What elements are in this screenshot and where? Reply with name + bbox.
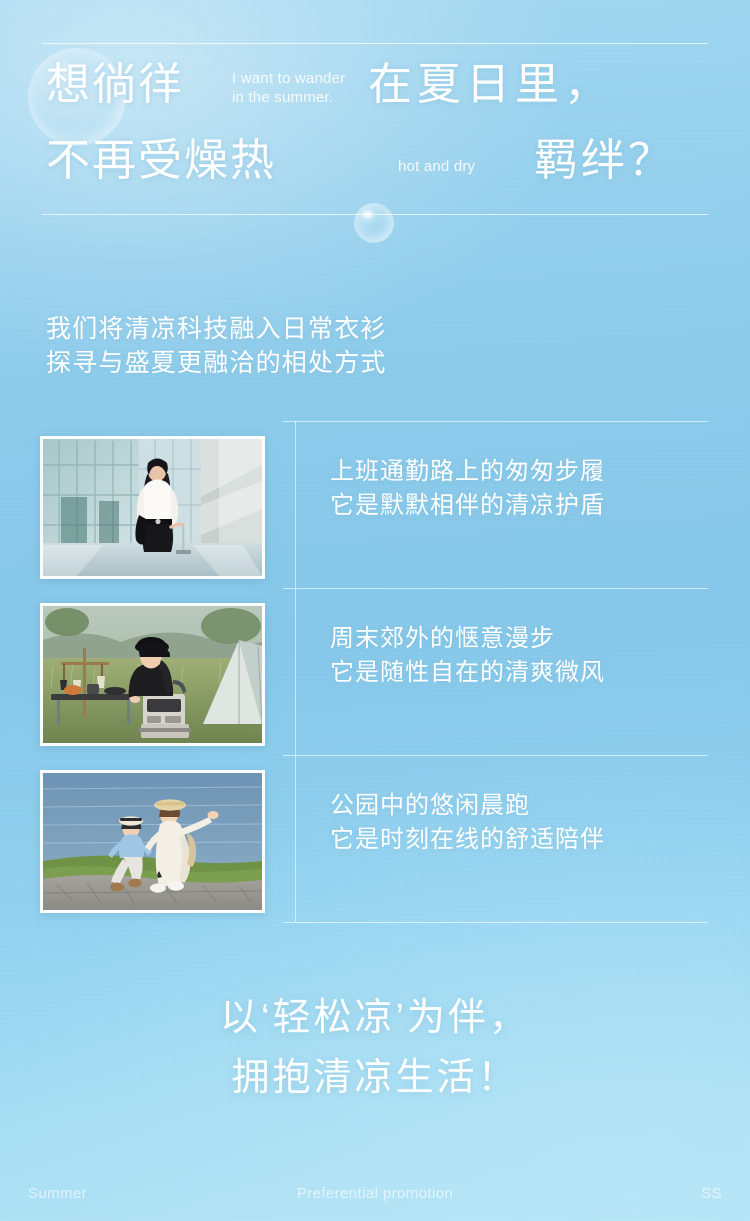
feature-rows: 上班通勤路上的匆匆步履 它是默默相伴的清凉护盾 <box>0 421 750 922</box>
park-run-photo-art <box>43 773 262 910</box>
headline-english-line2: in the summer. <box>232 88 345 107</box>
footer-left-label: Summer <box>28 1185 87 1202</box>
commute-photo[interactable] <box>40 436 265 579</box>
top-divider <box>42 43 708 44</box>
feature-row: 公园中的悠闲晨跑 它是时刻在线的舒适陪伴 <box>0 755 750 922</box>
feature-row: 周末郊外的惬意漫步 它是随性自在的清爽微风 <box>0 588 750 755</box>
intro-copy: 我们将清凉科技融入日常衣衫 探寻与盛夏更融洽的相处方式 <box>46 312 387 380</box>
tagline-block: 以‘轻松凉’为伴， 拥抱清凉生活！ <box>0 988 750 1108</box>
headline-line1-right: 在夏日里， <box>368 63 613 107</box>
feature-line1: 上班通勤路上的匆匆步履 <box>330 455 605 489</box>
feature-line1: 公园中的悠闲晨跑 <box>330 789 605 823</box>
bubble-icon-small <box>354 203 394 243</box>
header-bottom-divider <box>42 214 708 215</box>
header-block: 想徜徉 I want to wander in the summer. 在夏日里… <box>0 55 750 205</box>
tagline-line1: 以‘轻松凉’为伴， <box>0 988 750 1048</box>
headline-english-wander: I want to wander in the summer. <box>232 69 345 107</box>
rows-bottom-divider <box>283 922 708 923</box>
feature-line2: 它是默默相伴的清凉护盾 <box>330 489 605 523</box>
headline-english-hotdry: hot and dry <box>398 157 475 176</box>
headline-line1-left: 想徜徉 <box>46 63 184 107</box>
tagline-line2: 拥抱清凉生活！ <box>0 1048 750 1108</box>
headline-line2-right: 羁绊？ <box>534 139 675 183</box>
row-divider <box>283 755 708 756</box>
feature-line1: 周末郊外的惬意漫步 <box>330 622 605 656</box>
promo-poster: 想徜徉 I want to wander in the summer. 在夏日里… <box>0 0 750 1221</box>
feature-text: 公园中的悠闲晨跑 它是时刻在线的舒适陪伴 <box>330 789 605 857</box>
intro-line1: 我们将清凉科技融入日常衣衫 <box>46 312 387 346</box>
footer-center-label: Preferential promotion <box>297 1185 453 1202</box>
intro-line2: 探寻与盛夏更融洽的相处方式 <box>46 346 387 380</box>
feature-line2: 它是随性自在的清爽微风 <box>330 656 605 690</box>
feature-row: 上班通勤路上的匆匆步履 它是默默相伴的清凉护盾 <box>0 421 750 588</box>
row-divider <box>283 421 708 422</box>
park-run-photo[interactable] <box>40 770 265 913</box>
feature-line2: 它是时刻在线的舒适陪伴 <box>330 823 605 857</box>
feature-text: 上班通勤路上的匆匆步履 它是默默相伴的清凉护盾 <box>330 455 605 523</box>
camping-photo[interactable] <box>40 603 265 746</box>
feature-text: 周末郊外的惬意漫步 它是随性自在的清爽微风 <box>330 622 605 690</box>
headline-english-line1: I want to wander <box>232 69 345 88</box>
footer-bar: Summer Preferential promotion SS <box>0 1185 750 1213</box>
camping-photo-art <box>43 606 262 743</box>
headline-line2-left: 不再受燥热 <box>46 139 276 183</box>
footer-right-label: SS <box>701 1185 722 1202</box>
commute-photo-art <box>43 439 262 576</box>
row-divider <box>283 588 708 589</box>
